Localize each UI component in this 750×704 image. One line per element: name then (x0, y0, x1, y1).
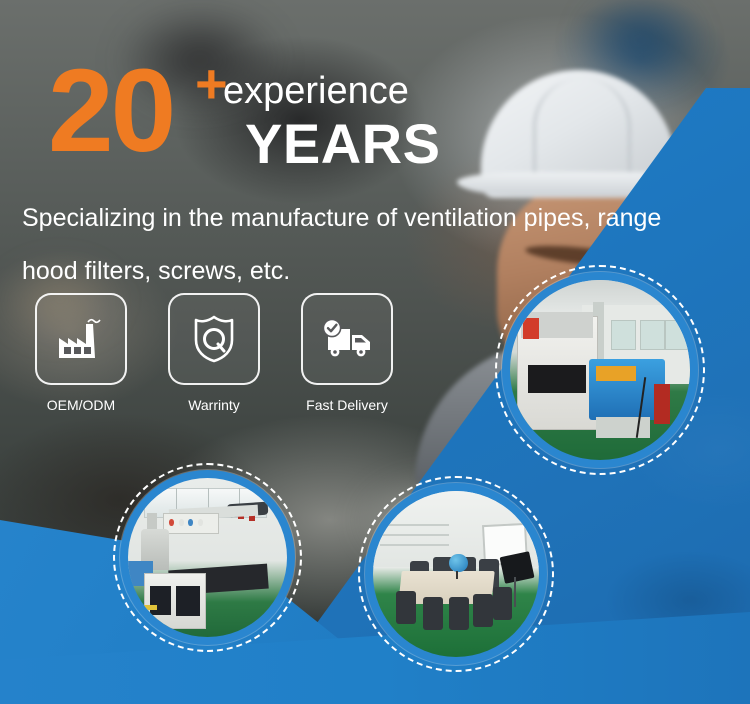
feature-icon-box (168, 293, 260, 385)
feature-warrinty[interactable]: Warrinty (169, 293, 259, 413)
feature-oem-odm[interactable]: OEM/ODM (36, 293, 126, 413)
photo-shrink-wrap-machine (502, 272, 698, 468)
years-label: YEARS (245, 116, 440, 172)
feature-label: Fast Delivery (306, 397, 388, 413)
feature-label: OEM/ODM (47, 397, 115, 413)
photo-frame (373, 491, 539, 657)
photo-frame (510, 280, 690, 460)
years-number: 20 (48, 52, 173, 170)
photo-packaging-line (120, 470, 295, 645)
shield-q-icon (191, 314, 237, 364)
hard-hat-ridge (533, 78, 631, 186)
photo-frame (128, 478, 287, 637)
company-banner: 20 + experience YEARS Specializing in th… (0, 0, 750, 704)
photo-content (510, 280, 690, 460)
feature-icon-box (35, 293, 127, 385)
feature-list: OEM/ODM Warrinty (36, 293, 392, 413)
experience-label: experience (223, 72, 409, 110)
photo-meeting-room (365, 483, 547, 665)
delivery-truck-icon (320, 317, 374, 361)
feature-icon-box (301, 293, 393, 385)
factory-icon (55, 316, 107, 362)
feature-fast-delivery[interactable]: Fast Delivery (302, 293, 392, 413)
headline: 20 + experience YEARS (48, 52, 468, 182)
photo-content (128, 478, 287, 637)
feature-label: Warrinty (188, 397, 240, 413)
photo-content (373, 491, 539, 657)
